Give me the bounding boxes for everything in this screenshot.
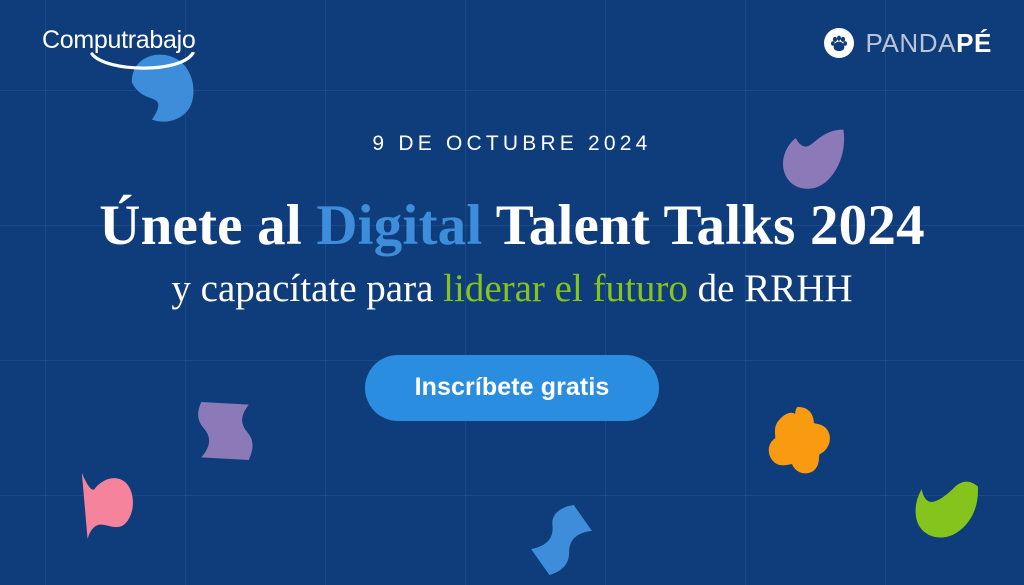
banner-content: 9 DE OCTUBRE 2024 Únete al Digital Talen… [0,0,1024,421]
subheadline-accent-liderar: liderar el futuro [443,267,688,310]
green-leaf-shape [912,470,982,542]
subheadline-part1: y capacítate para [171,267,443,310]
headline-part2: Talent Talks 2024 [482,194,924,257]
headline-part1: Únete al [99,194,316,257]
register-button[interactable]: Inscríbete gratis [365,355,660,421]
subheadline-part2: de RRHH [688,267,853,310]
blue-ribbon-shape [518,502,596,578]
event-date: 9 DE OCTUBRE 2024 [0,133,1024,154]
pink-leaf-shape [66,470,138,542]
headline: Únete al Digital Talent Talks 2024 [0,196,1024,256]
subheadline: y capacítate para liderar el futuro de R… [0,268,1024,311]
headline-accent-digital: Digital [316,194,482,257]
cta-container: Inscríbete gratis [0,355,1024,421]
promo-banner: Computrabajo PANDAPÉ 9 DE OCTUBRE 2024 Ú… [0,0,1024,585]
